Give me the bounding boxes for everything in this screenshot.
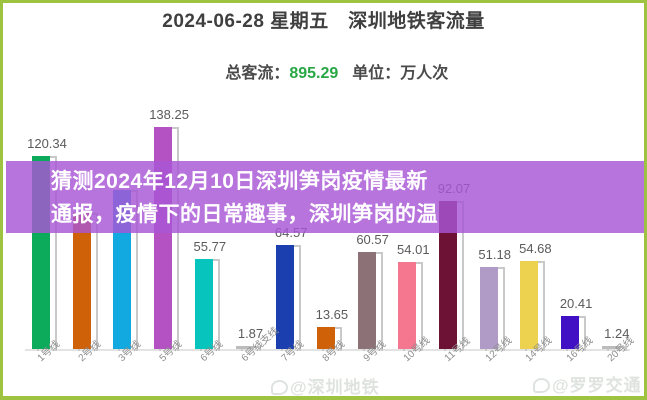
overlay-banner-text: 猜测2024年12月10日深圳笋岗疫情最新 通报，疫情下的日常趣事，深圳笋岗的温 [6,163,647,233]
bar-value-label: 55.77 [180,239,240,254]
bar-fill [195,259,213,349]
overlay-line-1: 猜测2024年12月10日深圳笋岗疫情最新 [51,165,635,198]
bar-value-label: 120.34 [17,136,77,151]
unit-label: 单位：万人次 [352,65,448,82]
metro-ridership-chart-screenshot: 2024-06-28 星期五 深圳地铁客流量 总客流：895.29单位：万人次 … [0,0,647,400]
total-passengers-label: 总客流： [225,65,289,82]
bar-value-label: 20.41 [546,296,606,311]
bar-fill [520,261,538,349]
page-title: 2024-06-28 星期五 深圳地铁客流量 [3,9,644,35]
bar-fill [480,267,498,349]
weibo-watermark-center: @深圳地铁 [271,373,380,398]
weibo-watermark-center-text: @深圳地铁 [290,378,380,397]
overlay-line-2: 通报，疫情下的日常趣事，深圳笋岗的温 [51,198,635,231]
bar-fill [358,252,376,349]
bar-value-label: 54.68 [505,241,565,256]
chart-subtitle: 总客流：895.29单位：万人次 [3,41,644,107]
bar-value-label: 138.25 [139,107,199,122]
bar-fill [398,262,416,349]
chart-header: 2024-06-28 星期五 深圳地铁客流量 总客流：895.29单位：万人次 [3,3,644,107]
weibo-watermark-right-text: @罗罗交通 [552,376,642,395]
bar-value-label: 54.01 [383,242,443,257]
bar-value-label: 13.65 [302,307,362,322]
total-passengers-value: 895.29 [289,65,338,82]
weibo-icon [533,378,550,393]
bar-fill [73,213,91,349]
weibo-watermark-right: @罗罗交通 [533,371,642,396]
weibo-icon [271,380,288,395]
